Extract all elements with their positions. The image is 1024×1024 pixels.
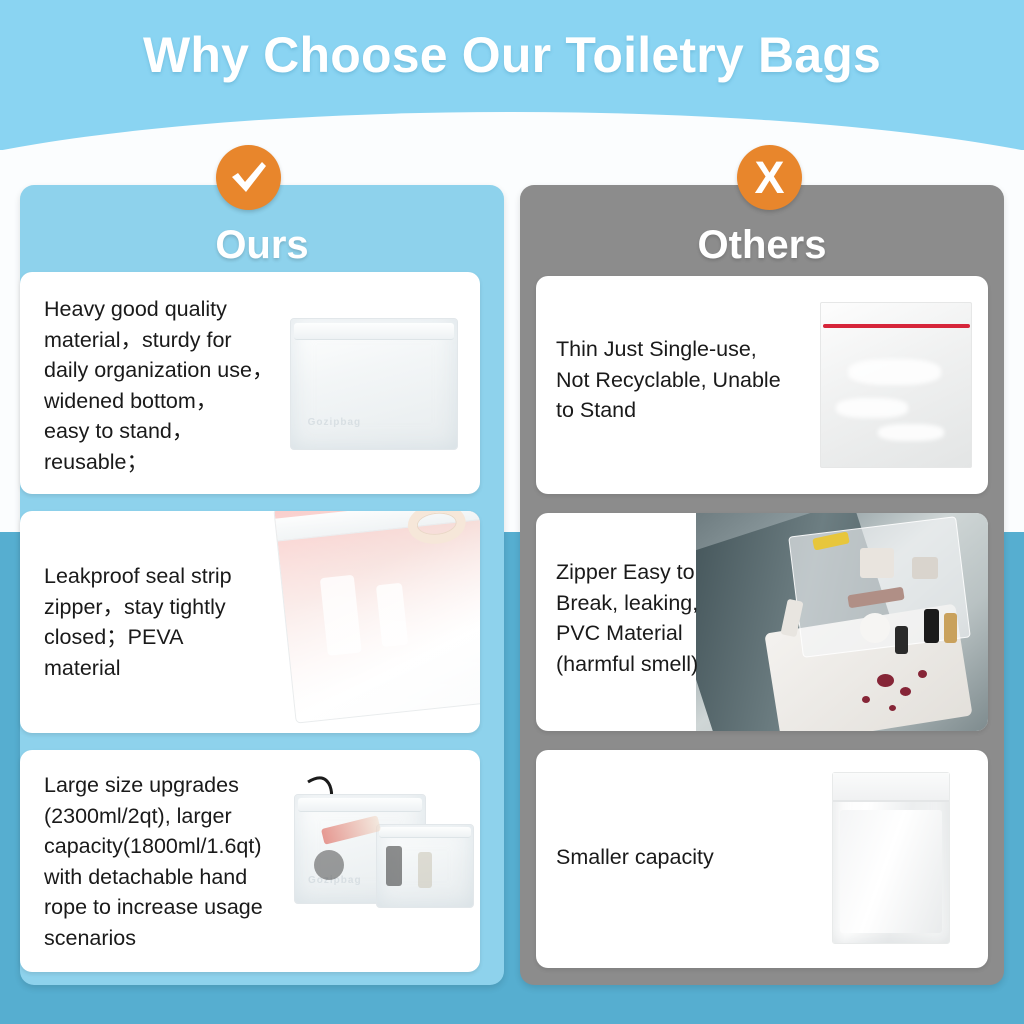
cross-badge: X xyxy=(737,145,802,210)
column-heading-ours: Ours xyxy=(20,223,504,268)
frosted-standing-toiletry-bag: Gozipbag xyxy=(276,292,466,474)
column-heading-others: Others xyxy=(520,223,1004,268)
column-others: Others Thin Just Single-use, Not Recycla… xyxy=(520,185,1004,985)
check-icon xyxy=(229,161,269,195)
thin-ziplock-bag-red-strip xyxy=(800,290,988,480)
card-text: Zipper Easy to Break, leaking, PVC Mater… xyxy=(556,557,776,679)
cross-icon: X xyxy=(754,155,784,200)
brand-mark: Gozipbag xyxy=(308,417,362,428)
check-badge xyxy=(216,145,281,210)
card-text: Thin Just Single-use, Not Recyclable, Un… xyxy=(556,334,812,426)
list-item: Leakproof seal strip zipper，stay tightly… xyxy=(20,511,480,733)
sealed-bag-with-pink-contents xyxy=(268,511,480,733)
infographic-page: Why Choose Our Toiletry Bags Ours Heavy … xyxy=(0,0,1024,1024)
card-text: Large size upgrades (2300ml/2qt), larger… xyxy=(44,770,306,953)
list-item: Thin Just Single-use, Not Recyclable, Un… xyxy=(536,276,988,494)
card-text: Smaller capacity xyxy=(556,842,796,873)
small-white-mylar-pouch xyxy=(798,764,988,954)
page-title: Why Choose Our Toiletry Bags xyxy=(0,26,1024,84)
list-item: Heavy good quality material，sturdy for d… xyxy=(20,272,480,494)
list-item: Large size upgrades (2300ml/2qt), larger… xyxy=(20,750,480,972)
two-bags-with-hand-rope: Gozipbag xyxy=(268,766,480,956)
list-item: Zipper Easy to Break, leaking, PVC Mater… xyxy=(536,513,988,731)
card-text: Heavy good quality material，sturdy for d… xyxy=(44,294,294,477)
card-text: Leakproof seal strip zipper，stay tightly… xyxy=(44,561,294,683)
list-item: Smaller capacity xyxy=(536,750,988,968)
column-ours: Ours Heavy good quality material，sturdy … xyxy=(20,185,504,985)
